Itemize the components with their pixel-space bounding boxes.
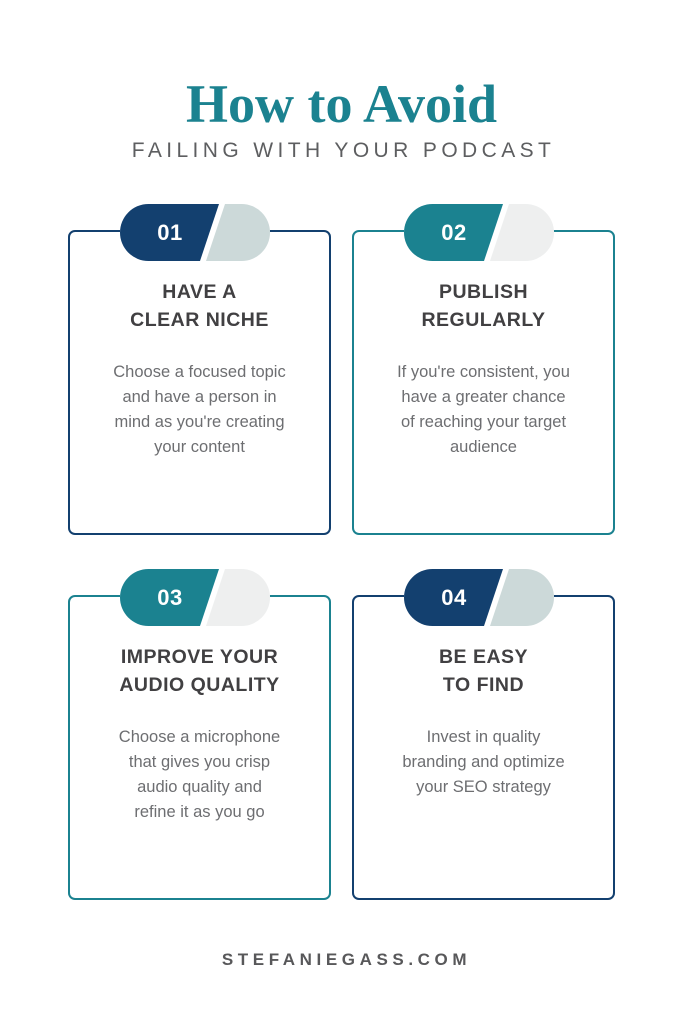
- tip-card-heading: BE EASY TO FIND: [366, 643, 601, 699]
- step-number-label: 03: [120, 569, 216, 626]
- tip-card[interactable]: 04BE EASY TO FINDInvest in quality brand…: [352, 595, 615, 900]
- tip-card-body: Invest in quality branding and optimize …: [376, 725, 591, 800]
- tip-card-body: Choose a microphone that gives you crisp…: [92, 725, 307, 825]
- tip-card-heading: IMPROVE YOUR AUDIO QUALITY: [82, 643, 317, 699]
- tip-card[interactable]: 03IMPROVE YOUR AUDIO QUALITYChoose a mic…: [68, 595, 331, 900]
- step-number-badge: 04: [404, 569, 554, 626]
- tips-card-grid: 01HAVE A CLEAR NICHEChoose a focused top…: [0, 0, 683, 1024]
- tip-card[interactable]: 01HAVE A CLEAR NICHEChoose a focused top…: [68, 230, 331, 535]
- tip-card-body: If you're consistent, you have a greater…: [376, 360, 591, 460]
- step-number-badge: 01: [120, 204, 270, 261]
- step-number-label: 04: [404, 569, 500, 626]
- tip-card-heading: HAVE A CLEAR NICHE: [82, 278, 317, 334]
- tip-card-body: Choose a focused topic and have a person…: [92, 360, 307, 460]
- step-number-label: 02: [404, 204, 500, 261]
- step-number-label: 01: [120, 204, 216, 261]
- tip-card[interactable]: 02PUBLISH REGULARLYIf you're consistent,…: [352, 230, 615, 535]
- tip-card-heading: PUBLISH REGULARLY: [366, 278, 601, 334]
- footer-website: STEFANIEGASS.COM: [0, 950, 683, 970]
- step-number-badge: 03: [120, 569, 270, 626]
- step-number-badge: 02: [404, 204, 554, 261]
